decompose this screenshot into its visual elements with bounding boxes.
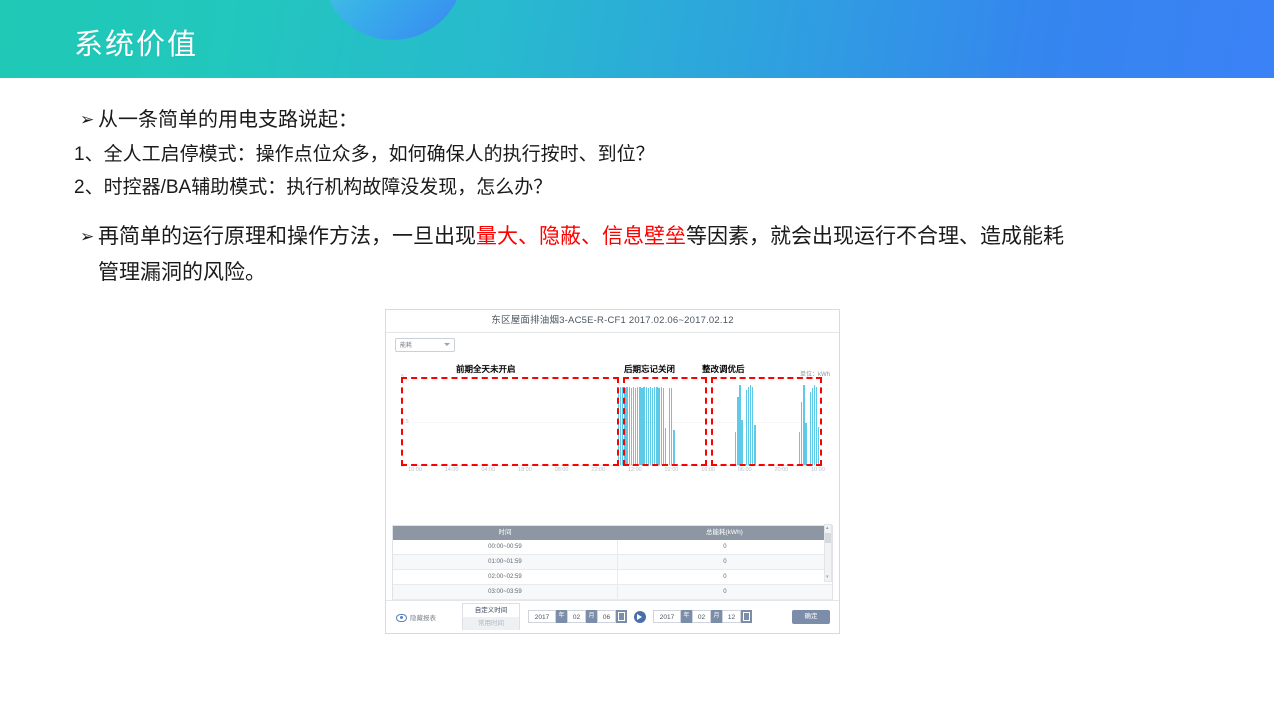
x-axis-tick: 18:00 (518, 467, 532, 473)
table-cell-energy: 0 (618, 540, 832, 554)
eye-icon (396, 614, 407, 622)
table-cell-energy: 0 (618, 585, 832, 599)
date-range-picker: 2017 年 02 月 06 2017 年 02 月 12 (528, 610, 752, 623)
time-mode-tabs: 自定义时间 常用时间 (462, 603, 520, 630)
tab-custom-time[interactable]: 自定义时间 (462, 603, 520, 617)
page-title: 系统价值 (74, 21, 198, 63)
table-cell-time: 01:00~01:59 (393, 555, 618, 569)
table-row[interactable]: 02:00~02:590 (393, 570, 832, 585)
app-bottom-toolbar: 隐藏报表 自定义时间 常用时间 2017 年 02 月 06 2017 年 02… (386, 600, 839, 633)
app-title: 东区屋面排油烟3-AC5E-R-CF1 2017.02.06~2017.02.1… (386, 310, 839, 333)
start-year-unit: 年 (556, 610, 567, 623)
metric-select-value: 能耗 (400, 343, 412, 349)
numbered-item-2: 2、时控器/BA辅助模式：执行机构故障没发现，怎么办？ (74, 174, 552, 202)
table-cell-time: 03:00~03:59 (393, 585, 618, 599)
metric-select[interactable]: 能耗 (395, 338, 455, 352)
end-month-unit: 月 (711, 610, 722, 623)
bullet-arrow-icon: ➢ (80, 106, 98, 134)
x-axis-tick: 02:00 (665, 467, 679, 473)
table-scrollbar[interactable]: ▴ ▾ (824, 524, 832, 582)
arrow-right-icon[interactable] (634, 611, 646, 623)
hide-report-button[interactable]: 隐藏报表 (396, 612, 436, 622)
annotation-label-1: 前期全天未开启 (456, 363, 516, 375)
bullet-item-2: ➢再简单的运行原理和操作方法，一旦出现量大、隐蔽、信息壁垒等因素，就会出现运行不… (80, 219, 1090, 291)
numbered-marker-2: 2、 (74, 177, 104, 198)
energy-table: 时间 总能耗(kWh) 00:00~00:59001:00~01:59002:0… (392, 525, 833, 600)
scroll-up-icon[interactable]: ▴ (826, 526, 829, 531)
banner-decoration-circle (322, 0, 464, 40)
table-header-row: 时间 总能耗(kWh) (393, 526, 832, 540)
energy-bar-chart: 前期全天未开启 后期忘记关闭 整改调优后 5 2.5 0 10:0014:000… (392, 363, 833, 523)
x-axis-tick: 22:00 (591, 467, 605, 473)
scrollbar-thumb[interactable] (825, 533, 831, 543)
start-month-input[interactable]: 02 (567, 610, 586, 623)
table-cell-energy: 0 (618, 555, 832, 569)
numbered-text-1: 全人工启停模式：操作点位众多，如何确保人的执行按时、到位？ (104, 144, 655, 165)
x-axis-tick: 08:00 (555, 467, 569, 473)
start-day-input[interactable]: 06 (597, 610, 616, 623)
x-axis-tick: 14:00 (445, 467, 459, 473)
bullet2-part1: 再简单的运行原理和操作方法，一旦出现 (98, 225, 476, 248)
end-calendar-icon[interactable] (741, 610, 752, 623)
x-axis-tick: 10:00 (811, 467, 825, 473)
table-header-energy: 总能耗(kWh) (617, 526, 832, 540)
highlight-box-3 (711, 377, 822, 466)
x-axis-tick: 10:00 (408, 467, 422, 473)
highlight-box-1 (401, 377, 619, 466)
end-day-input[interactable]: 12 (722, 610, 741, 623)
bullet-item-1: ➢从一条简单的用电支路说起： (80, 106, 358, 134)
chart-bar (620, 387, 621, 465)
numbered-text-2: 时控器/BA辅助模式：执行机构故障没发现，怎么办？ (104, 177, 553, 198)
bullet-arrow-icon-2: ➢ (80, 219, 98, 255)
x-axis-tick: 04:00 (481, 467, 495, 473)
table-row[interactable]: 01:00~01:590 (393, 555, 832, 570)
numbered-item-1: 1、全人工启停模式：操作点位众多，如何确保人的执行按时、到位？ (74, 141, 655, 169)
table-cell-time: 02:00~02:59 (393, 570, 618, 584)
annotation-label-2: 后期忘记关闭 (624, 363, 675, 375)
x-axis-tick: 06:00 (738, 467, 752, 473)
table-row[interactable]: 00:00~00:590 (393, 540, 832, 555)
end-month-input[interactable]: 02 (692, 610, 711, 623)
x-axis-tick: 12:00 (628, 467, 642, 473)
end-year-unit: 年 (681, 610, 692, 623)
tab-common-time[interactable]: 常用时间 (462, 617, 520, 630)
slide-header-banner: 系统价值 (0, 0, 1274, 78)
table-row[interactable]: 03:00~03:590 (393, 585, 832, 600)
start-month-unit: 月 (586, 610, 597, 623)
start-year-input[interactable]: 2017 (528, 610, 556, 623)
table-cell-time: 00:00~00:59 (393, 540, 618, 554)
highlight-box-2 (623, 377, 707, 466)
scroll-down-icon[interactable]: ▾ (826, 575, 829, 580)
table-cell-energy: 0 (618, 570, 832, 584)
confirm-button[interactable]: 确定 (792, 610, 830, 624)
x-axis-ticks: 10:0014:0004:0018:0008:0022:0012:0002:00… (401, 467, 822, 477)
annotation-label-3: 整改调优后 (702, 363, 745, 375)
end-year-input[interactable]: 2017 (653, 610, 681, 623)
embedded-app-screenshot: 东区屋面排油烟3-AC5E-R-CF1 2017.02.06~2017.02.1… (385, 309, 840, 634)
x-axis-tick: 20:00 (774, 467, 788, 473)
app-toolbar: 能耗 单位：kWh (386, 333, 839, 363)
start-calendar-icon[interactable] (616, 610, 627, 623)
bullet2-highlight: 量大、隐蔽、信息壁垒 (476, 225, 686, 248)
numbered-marker-1: 1、 (74, 144, 104, 165)
bullet-text-1: 从一条简单的用电支路说起： (98, 109, 358, 131)
hide-report-label: 隐藏报表 (410, 615, 436, 622)
chevron-down-icon (444, 343, 450, 346)
x-axis-tick: 16:00 (701, 467, 715, 473)
table-header-time: 时间 (393, 526, 617, 540)
table-body: 00:00~00:59001:00~01:59002:00~02:59003:0… (393, 540, 832, 600)
